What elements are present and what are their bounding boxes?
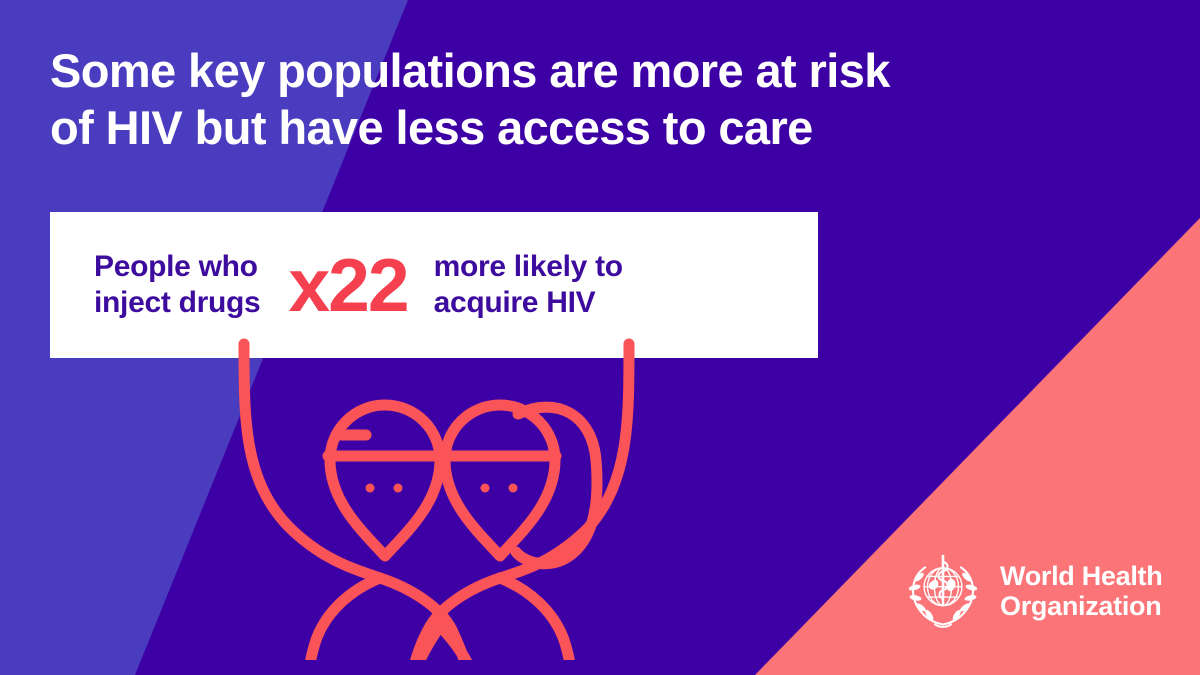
right-figure-eye-left <box>481 484 490 493</box>
right-figure-leg <box>564 640 576 660</box>
left-figure-head <box>330 405 440 556</box>
who-wordmark: World Health Organization <box>1000 561 1162 621</box>
two-people-illustration <box>200 330 700 660</box>
outcome-label: more likely to acquire HIV <box>434 249 623 321</box>
who-emblem-icon <box>900 548 986 634</box>
multiplier-value: x22 <box>288 248 407 323</box>
infographic-canvas: Some key populations are more at risk of… <box>0 0 1200 675</box>
right-figure-side <box>500 578 564 640</box>
left-figure-eye-left <box>366 484 375 493</box>
left-figure-eye-right <box>394 484 403 493</box>
who-logo: World Health Organization <box>900 545 1165 637</box>
left-figure-leg <box>304 640 316 660</box>
left-figure-side <box>316 578 380 640</box>
population-label: People who inject drugs <box>94 249 260 321</box>
emblem-landmass-left <box>929 580 938 590</box>
right-figure-head <box>445 405 555 556</box>
page-title: Some key populations are more at risk of… <box>50 42 1120 157</box>
right-figure-eye-right <box>509 484 518 493</box>
